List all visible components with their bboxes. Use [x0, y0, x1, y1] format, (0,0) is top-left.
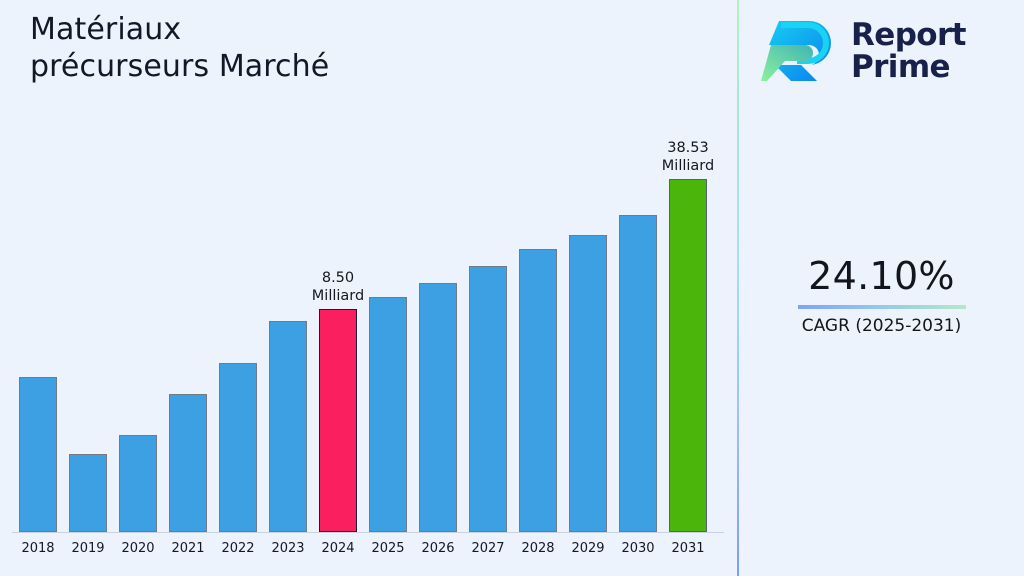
x-axis-tick-2025: 2025: [361, 540, 415, 558]
x-axis-tick-2027: 2027: [461, 540, 515, 558]
bar-value-label-2024: 8.50 Milliard: [290, 269, 386, 305]
x-axis-tick-2024: 2024: [311, 540, 365, 558]
x-axis-tick-2019: 2019: [61, 540, 115, 558]
bar-2019: [69, 454, 107, 532]
bar-2025: [369, 297, 407, 532]
x-axis-tick-2023: 2023: [261, 540, 315, 558]
bar-2023: [269, 321, 307, 532]
bar-2028: [519, 249, 557, 532]
cagr-caption: CAGR (2025-2031): [739, 315, 1024, 337]
x-axis-tick-2021: 2021: [161, 540, 215, 558]
x-axis-tick-2020: 2020: [111, 540, 165, 558]
x-axis-tick-2031: 2031: [661, 540, 715, 558]
bar-2026: [419, 283, 457, 532]
x-axis-tick-2029: 2029: [561, 540, 615, 558]
bar-2018: [19, 377, 57, 532]
bar-2029: [569, 235, 607, 532]
bar-2020: [119, 435, 157, 532]
bar-2024: [319, 309, 357, 532]
bar-2030: [619, 215, 657, 532]
x-axis-tick-2030: 2030: [611, 540, 665, 558]
x-axis-tick-2028: 2028: [511, 540, 565, 558]
chart-panel: Matériaux précurseurs Marché 20182019202…: [0, 0, 737, 576]
report-prime-logo-mark-icon: [761, 15, 839, 87]
bar-chart-plot-area: 2018201920202021202220232024202520262027…: [0, 0, 737, 576]
x-axis-tick-2026: 2026: [411, 540, 465, 558]
infographic-root: Matériaux précurseurs Marché 20182019202…: [0, 0, 1024, 576]
side-panel: Report Prime 24.10% CAGR (2025-2031): [739, 0, 1024, 576]
bar-value-label-2031: 38.53 Milliard: [640, 139, 736, 175]
bar-2031: [669, 179, 707, 532]
bar-2021: [169, 394, 207, 532]
report-prime-logo: Report Prime: [761, 10, 1006, 92]
logo-wordmark: Report Prime: [851, 19, 966, 83]
bar-2022: [219, 363, 257, 532]
cagr-block: 24.10% CAGR (2025-2031): [739, 252, 1024, 337]
x-axis-tick-2018: 2018: [11, 540, 65, 558]
bar-2027: [469, 266, 507, 532]
cagr-gradient-rule: [798, 305, 966, 309]
cagr-value: 24.10%: [739, 252, 1024, 300]
x-axis-line: [12, 532, 724, 533]
x-axis-tick-2022: 2022: [211, 540, 265, 558]
